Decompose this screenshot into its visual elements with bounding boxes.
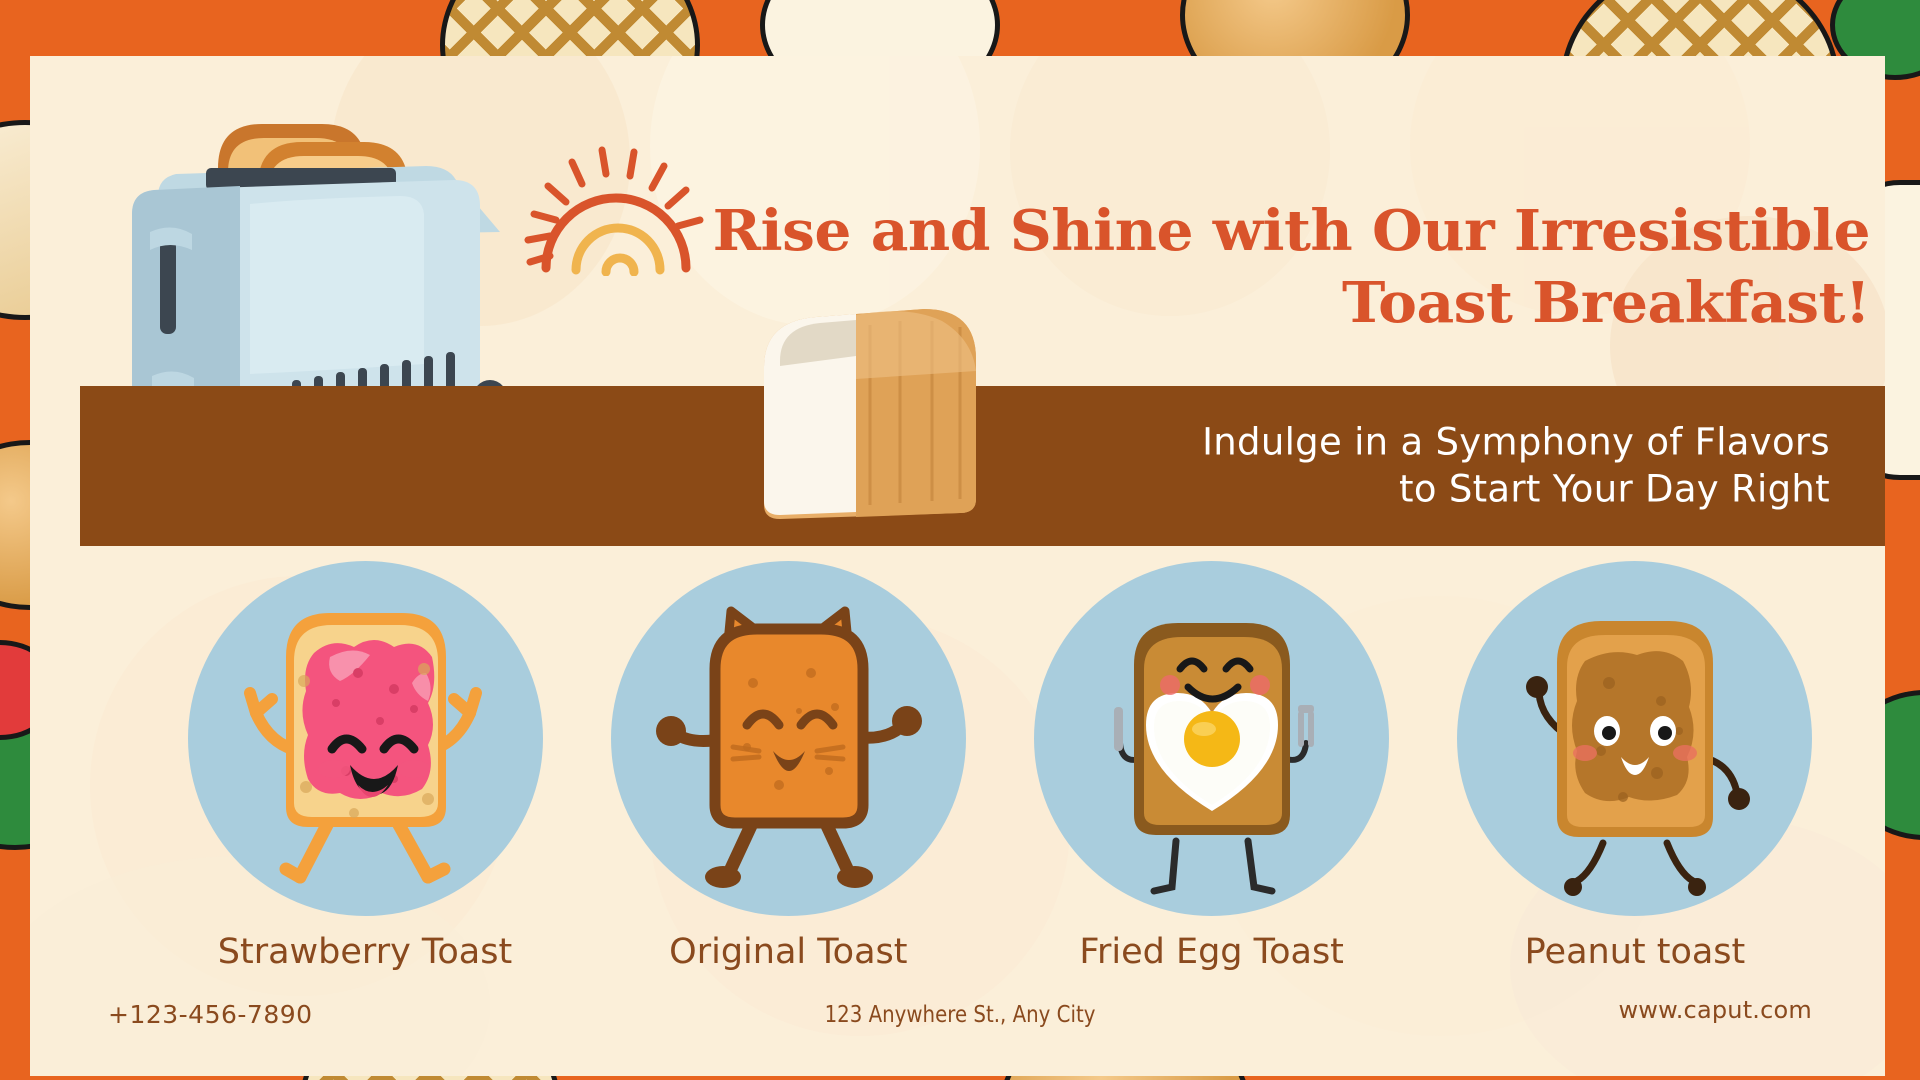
product-item-fried-egg-toast[interactable]: Fried Egg Toast [1017,561,1407,1021]
product-circle [611,561,966,916]
product-label: Strawberry Toast [170,932,560,972]
product-item-peanut-toast[interactable]: Peanut toast [1440,561,1830,1021]
bread-loaf-photo [750,301,990,521]
product-label: Peanut toast [1440,932,1830,972]
product-label: Fried Egg Toast [1017,932,1407,972]
strawberry-toast-character [188,561,543,916]
subtitle-line-1: Indulge in a Symphony of Flavors [1202,419,1830,466]
product-item-original-toast[interactable]: Original Toast [593,561,983,1021]
footer-website[interactable]: www.caput.com [1618,996,1812,1024]
poster: Rise and Shine with Our Irresistible Toa… [0,0,1920,1080]
footer-address: 123 Anywhere St., Any City [825,1002,1096,1028]
fried-egg-toast-character [1034,561,1389,916]
original-toast-character [611,561,966,916]
product-circle [188,561,543,916]
headline-line-1: Rise and Shine with Our Irresistible [622,196,1870,268]
product-circle [1457,561,1812,916]
subtitle-line-2: to Start Your Day Right [1202,466,1830,513]
product-list: Strawberry Toast [170,561,1830,1021]
subtitle-text: Indulge in a Symphony of Flavors to Star… [1202,419,1830,514]
product-item-strawberry-toast[interactable]: Strawberry Toast [170,561,560,1021]
product-circle [1034,561,1389,916]
poster-card: Rise and Shine with Our Irresistible Toa… [30,56,1885,1076]
footer-phone[interactable]: +123-456-7890 [108,1000,313,1029]
peanut-toast-character [1457,561,1812,916]
product-label: Original Toast [593,932,983,972]
